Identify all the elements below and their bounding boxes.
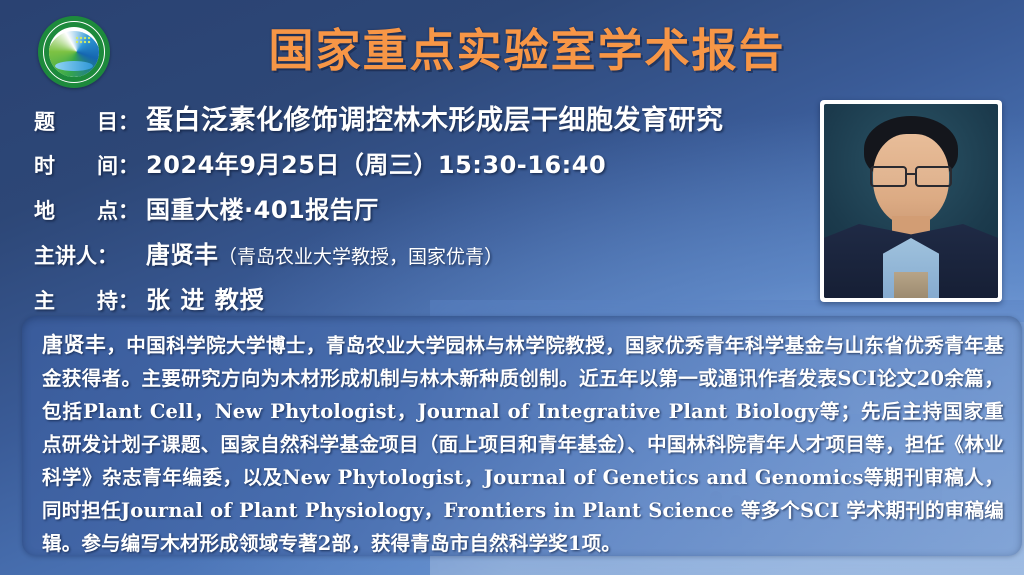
seminar-info-block: 题 目： 蛋白泛素化修饰调控林木形成层干细胞发育研究 时 间： 2024年9月2… [34, 98, 824, 321]
info-label-host: 主 持： [34, 285, 146, 315]
info-row-host: 主 持： 张 进 教授 [34, 280, 824, 315]
bio-paragraph: 唐贤丰，中国科学院大学博士，青岛农业大学园林与林学院教授，国家优秀青年科学基金与… [42, 328, 1004, 560]
bio-speaker-name: 唐贤丰 [42, 332, 106, 357]
info-value-speaker-affiliation: （青岛农业大学教授，国家优青） [218, 242, 503, 269]
poster-header: 国家重点实验室学术报告 [0, 0, 1024, 92]
speaker-bio-panel: 唐贤丰，中国科学院大学博士，青岛农业大学园林与林学院教授，国家优秀青年科学基金与… [22, 316, 1022, 556]
info-value-host: 张 进 教授 [146, 280, 265, 315]
info-label-time: 时 间： [34, 150, 146, 180]
info-label-speaker: 主讲人： [34, 240, 146, 270]
info-row-topic: 题 目： 蛋白泛素化修饰调控林木形成层干细胞发育研究 [34, 98, 824, 137]
info-value-place: 国重大楼·401报告厅 [146, 190, 379, 225]
bio-body-text: ，中国科学院大学博士，青岛农业大学园林与林学院教授，国家优秀青年科学基金与山东省… [42, 334, 1004, 555]
speaker-portrait [820, 100, 1002, 302]
info-value-time: 2024年9月25日（周三）15:30-16:40 [146, 145, 606, 180]
portrait-photo [824, 104, 998, 298]
info-label-topic: 题 目： [34, 106, 146, 136]
info-row-time: 时 间： 2024年9月25日（周三）15:30-16:40 [34, 145, 824, 180]
info-value-speaker: 唐贤丰 [146, 235, 218, 270]
info-row-place: 地 点： 国重大楼·401报告厅 [34, 190, 824, 225]
portrait-vest [894, 272, 928, 298]
poster-title: 国家重点实验室学术报告 [0, 14, 1024, 79]
info-row-speaker: 主讲人： 唐贤丰 （青岛农业大学教授，国家优青） [34, 235, 824, 270]
info-value-topic: 蛋白泛素化修饰调控林木形成层干细胞发育研究 [146, 98, 724, 137]
portrait-glasses-icon [869, 166, 953, 184]
seminar-poster: 国家重点实验室学术报告 题 目： 蛋白泛素化修饰调控林木形成层干细胞发育研究 时… [0, 0, 1024, 575]
info-label-place: 地 点： [34, 195, 146, 225]
